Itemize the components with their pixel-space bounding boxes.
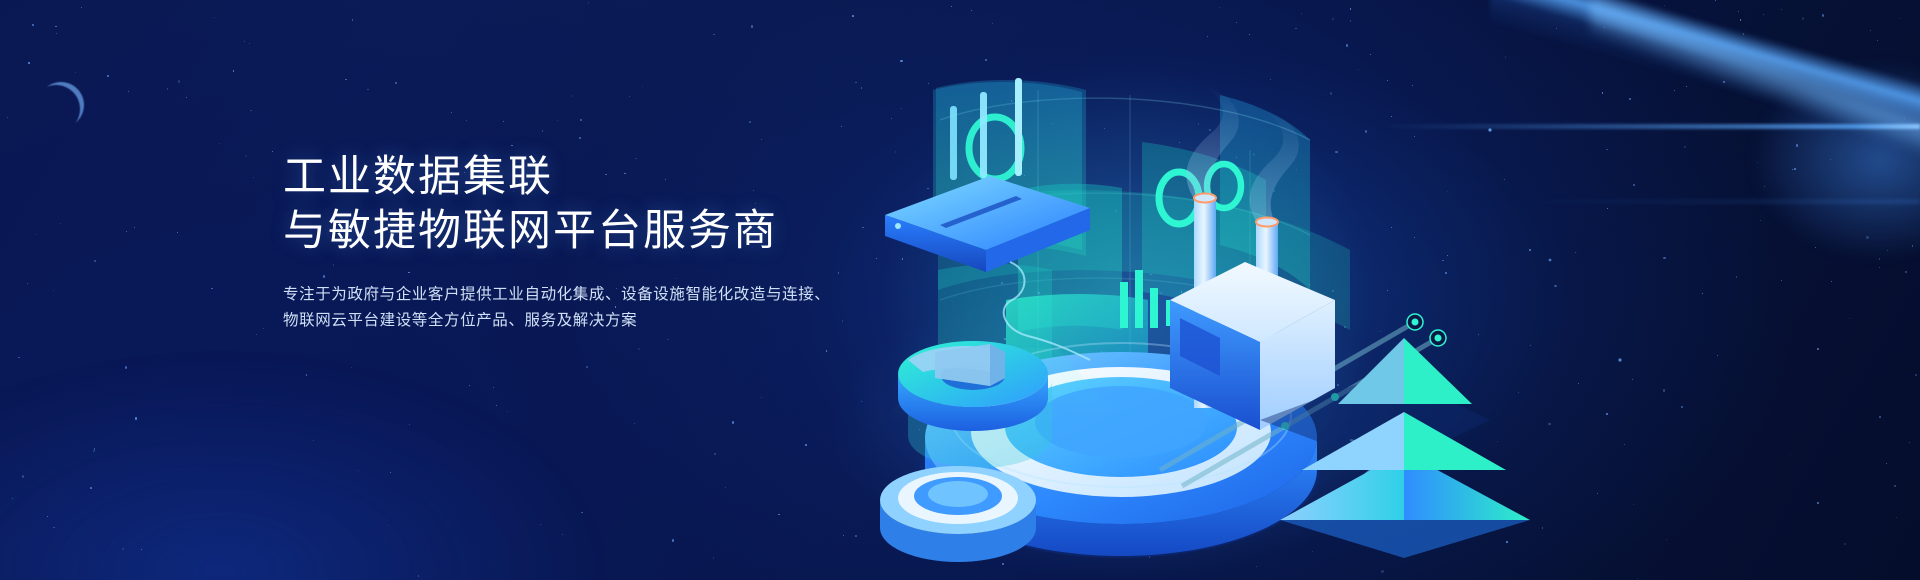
star: [128, 91, 129, 92]
star: [246, 156, 247, 157]
star: [214, 17, 216, 19]
star: [579, 137, 581, 139]
headline-line-1: 工业数据集联: [283, 150, 1043, 204]
star: [107, 75, 109, 77]
bottom-glow: [0, 360, 600, 580]
hero-subtitle: 专注于为政府与企业客户提供工业自动化集成、设备设施智能化改造与连接、 物联网云平…: [283, 282, 823, 334]
hero-copy: 工业数据集联 与敏捷物联网平台服务商 专注于为政府与企业客户提供工业自动化集成、…: [283, 150, 1043, 334]
star: [53, 290, 54, 291]
star: [713, 34, 715, 36]
star: [511, 145, 513, 147]
bar-2: [1135, 270, 1143, 328]
star: [272, 151, 273, 152]
star: [28, 62, 30, 64]
star: [714, 453, 716, 455]
star: [253, 177, 254, 178]
headline-line-2: 与敏捷物联网平台服务商: [283, 204, 1043, 258]
glint-1: [1488, 128, 1491, 131]
bar-3: [1150, 288, 1158, 328]
star: [75, 72, 77, 74]
base-disc-core: [928, 481, 988, 507]
star: [571, 95, 573, 97]
star: [245, 155, 246, 156]
star: [345, 79, 347, 81]
star: [503, 121, 505, 123]
star: [638, 348, 640, 350]
glint-2: [1549, 259, 1552, 262]
star: [713, 557, 715, 559]
star: [749, 121, 751, 123]
hero-banner: 工业数据集联 与敏捷物联网平台服务商 专注于为政府与企业客户提供工业自动化集成、…: [0, 0, 1920, 580]
star: [751, 25, 753, 27]
star: [178, 80, 180, 82]
smokestack-left-rim: [1194, 194, 1216, 203]
star: [761, 139, 762, 140]
star: [18, 357, 20, 359]
star: [367, 89, 369, 91]
star: [725, 487, 726, 488]
star: [732, 421, 734, 423]
star: [219, 143, 220, 144]
star: [496, 405, 497, 406]
star: [126, 231, 127, 232]
star: [642, 86, 643, 87]
star: [94, 260, 96, 262]
star: [55, 26, 57, 28]
star: [629, 96, 630, 97]
star: [672, 539, 674, 541]
bar-1: [1120, 282, 1128, 328]
star: [451, 112, 452, 113]
beam-dot-b: [1435, 335, 1442, 342]
star: [177, 232, 178, 233]
star: [56, 33, 58, 35]
star: [469, 385, 470, 386]
star: [249, 43, 250, 44]
star: [352, 19, 354, 21]
star: [81, 7, 83, 9]
star: [32, 24, 34, 26]
star: [7, 117, 8, 118]
star: [634, 423, 635, 424]
subtitle-line-2: 物联网云平台建设等全方位产品、服务及解决方案: [283, 308, 823, 334]
star: [507, 411, 509, 413]
beam-dot-a: [1412, 319, 1419, 326]
star: [761, 397, 762, 398]
star: [667, 339, 669, 341]
star: [586, 366, 588, 368]
star: [395, 82, 397, 84]
subtitle-line-1: 专注于为政府与企业客户提供工业自动化集成、设备设施智能化改造与连接、: [283, 282, 823, 308]
star: [778, 514, 780, 516]
star: [256, 334, 257, 335]
star: [588, 2, 590, 4]
star: [351, 367, 353, 369]
star: [233, 70, 235, 72]
base-disc: [880, 466, 1036, 562]
star: [263, 328, 264, 329]
star: [60, 223, 61, 224]
star: [250, 110, 252, 112]
star: [186, 97, 188, 99]
star: [493, 387, 495, 389]
star: [27, 283, 28, 284]
star: [167, 88, 169, 90]
star: [134, 227, 135, 228]
star: [211, 288, 213, 290]
star: [36, 234, 37, 235]
glint-3: [1618, 358, 1621, 361]
star: [466, 120, 468, 122]
star: [580, 119, 582, 121]
smokestack-right-rim: [1256, 218, 1278, 227]
pyramid-tier1-right: [1404, 338, 1472, 404]
star: [542, 130, 544, 132]
crescent-moon-icon: [38, 82, 84, 128]
star: [244, 41, 245, 42]
star: [557, 120, 558, 121]
